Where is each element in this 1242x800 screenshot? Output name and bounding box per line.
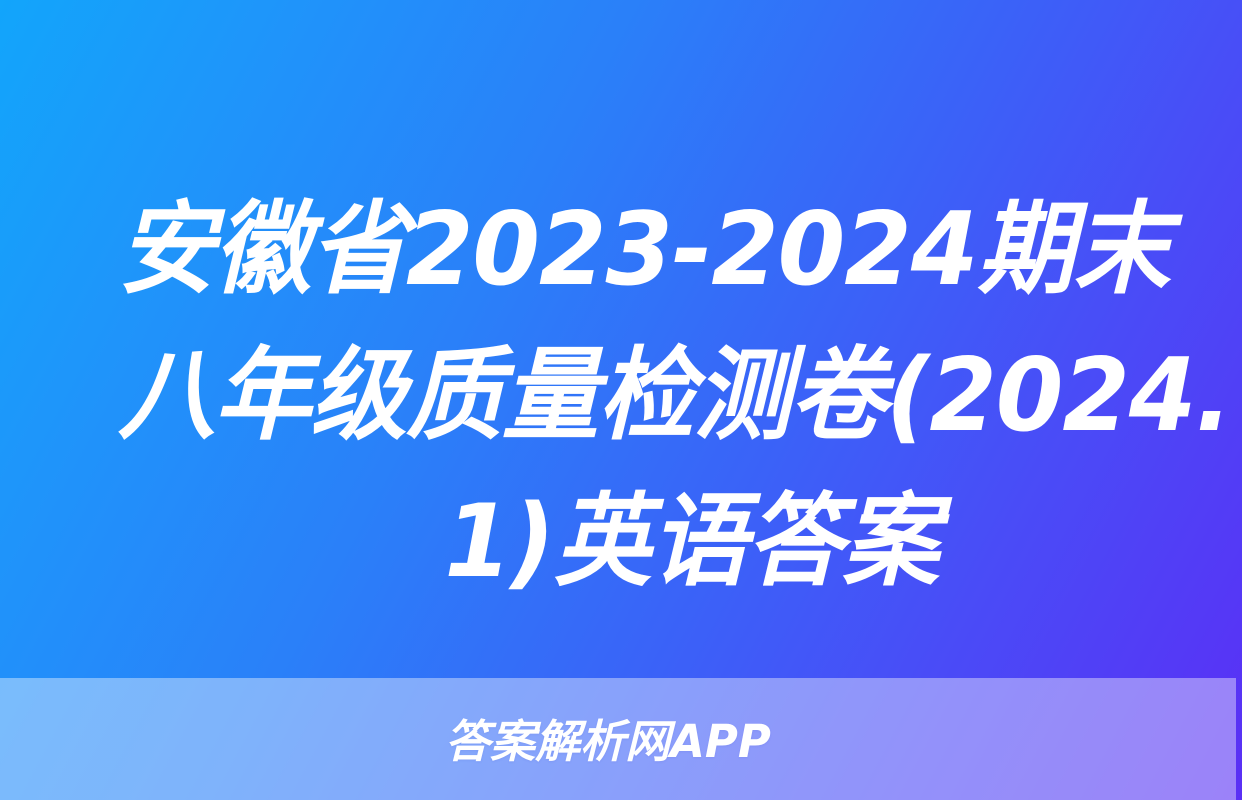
title-line-2: 八年级质量检测卷(2024. [118,322,1145,468]
watermark-text: 答案解析网APP [445,705,771,770]
page-title: 安徽省2023-2024期末 八年级质量检测卷(2024. 1)英语答案 [118,176,1188,614]
title-line-3: 1)英语答案 [444,468,1242,614]
footer-watermark-bar: 答案解析网APP [0,678,1236,800]
promo-card: 安徽省2023-2024期末 八年级质量检测卷(2024. 1)英语答案 答案解… [0,0,1242,800]
title-line-1: 安徽省2023-2024期末 [118,176,1145,322]
